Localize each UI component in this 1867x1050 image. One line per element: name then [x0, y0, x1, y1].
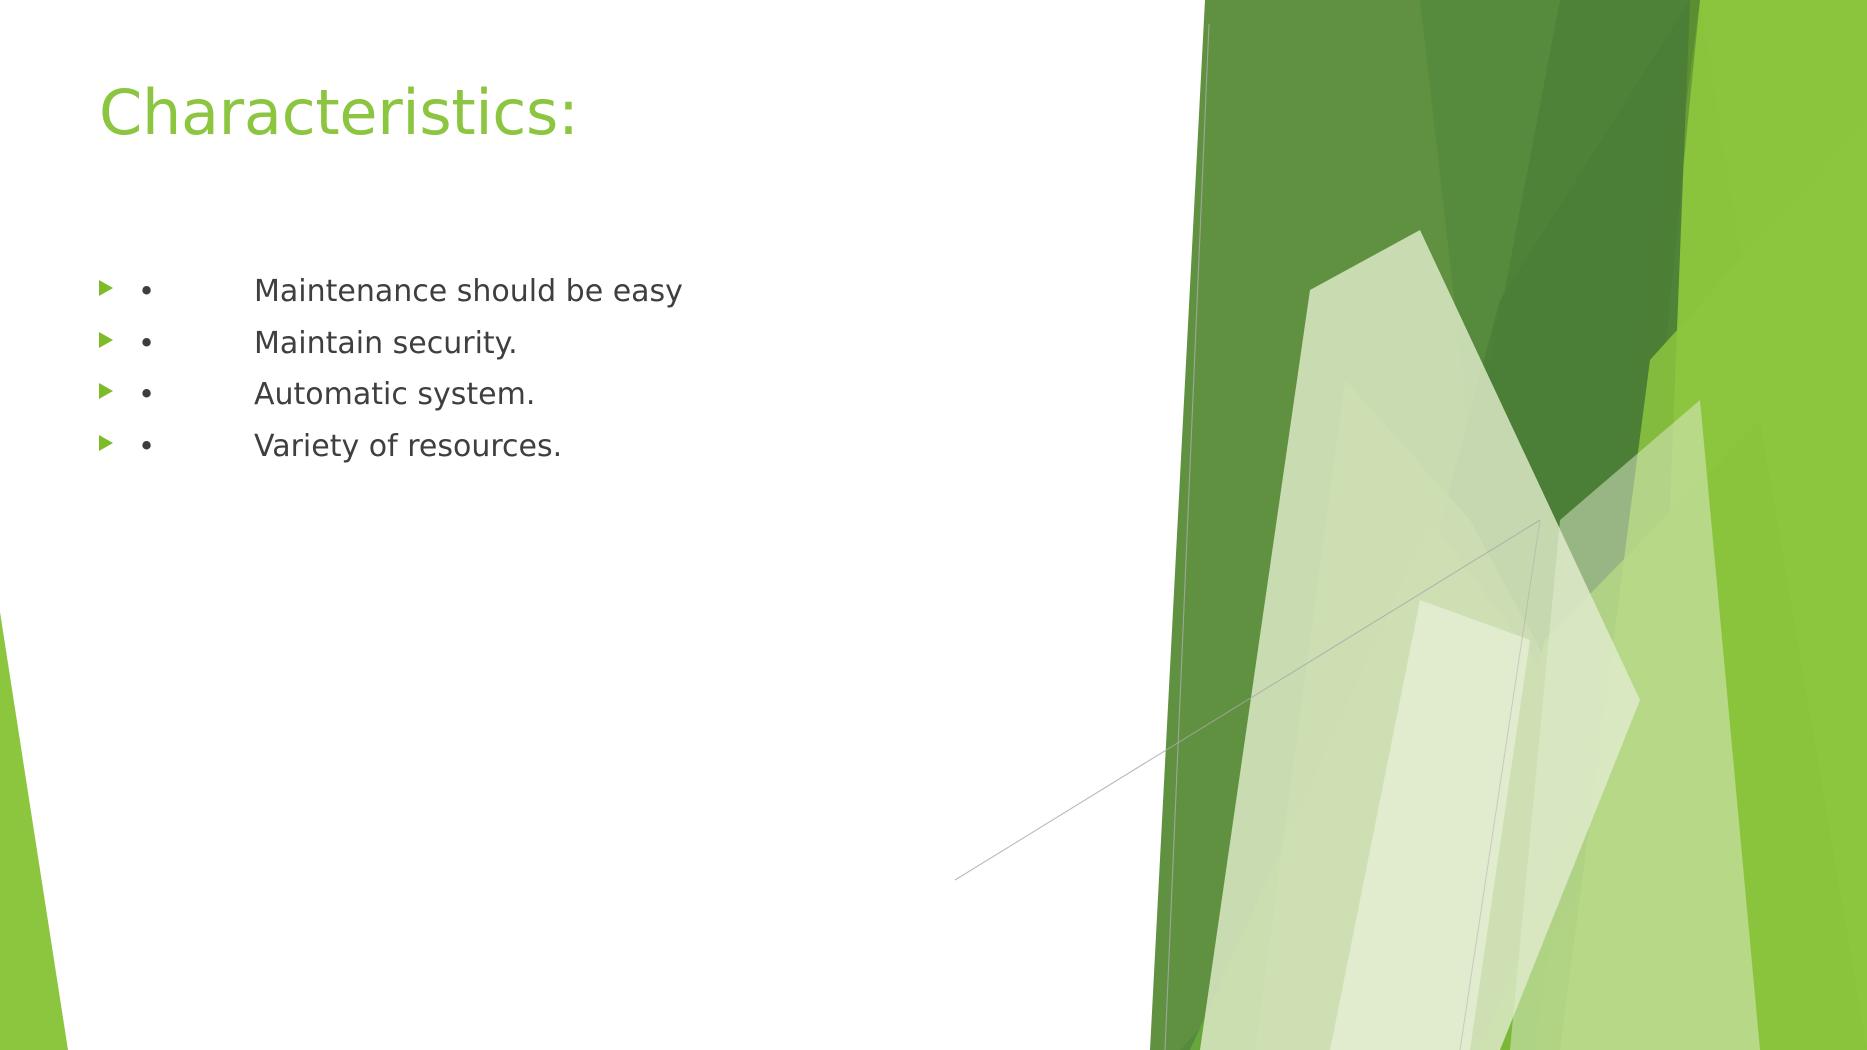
list-item-label: Automatic system.: [162, 380, 535, 410]
list-item[interactable]: • Variety of resources.: [96, 432, 1116, 484]
presentation-slide: Characteristics: • Maintenance should be…: [0, 0, 1867, 1050]
list-item-label: Maintain security.: [162, 329, 518, 359]
bullet-dot: •: [118, 329, 162, 358]
triangle-marker-icon: [96, 278, 118, 298]
slide-title: Characteristics:: [99, 78, 579, 147]
triangle-marker-icon: [96, 433, 118, 453]
facet-decoration-right: [0, 0, 1867, 1050]
bullet-dot: •: [118, 380, 162, 409]
list-item[interactable]: • Automatic system.: [96, 380, 1116, 432]
list-item-label: Variety of resources.: [162, 432, 562, 462]
bullet-dot: •: [118, 277, 162, 306]
triangle-marker-icon: [96, 381, 118, 401]
triangle-marker-icon: [96, 330, 118, 350]
bullet-dot: •: [118, 432, 162, 461]
bullet-list: • Maintenance should be easy • Maintain …: [96, 277, 1116, 483]
list-item[interactable]: • Maintain security.: [96, 329, 1116, 381]
list-item[interactable]: • Maintenance should be easy: [96, 277, 1116, 329]
list-item-label: Maintenance should be easy: [162, 277, 683, 307]
facet-decoration-left: [0, 0, 1867, 1050]
